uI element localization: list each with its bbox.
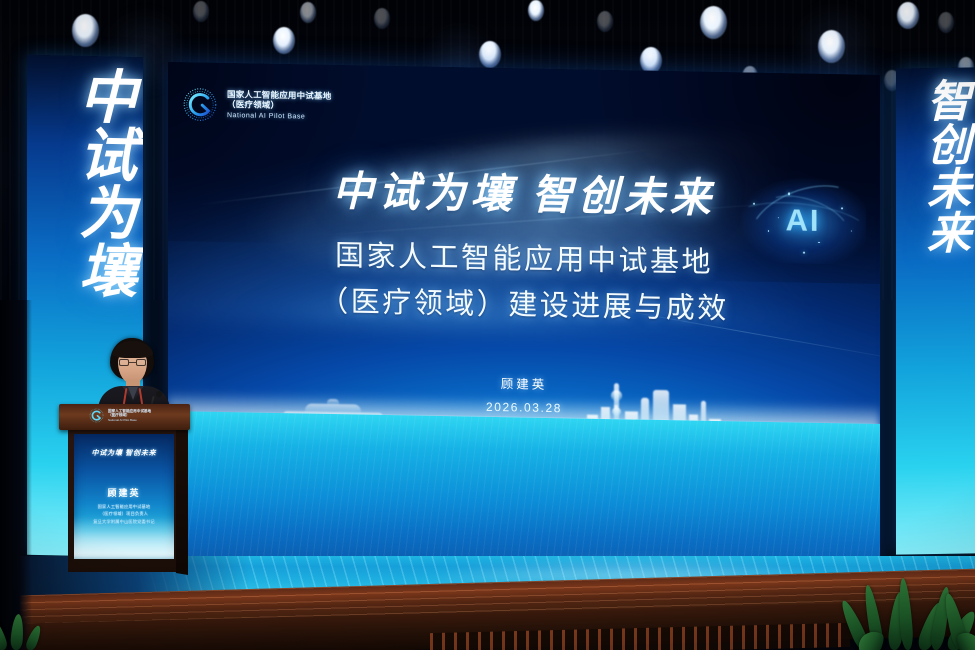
main-led-screen: 国家人工智能应用中试基地 （医疗领域） National AI Pilot Ba… <box>168 62 880 573</box>
speaker-glasses <box>119 359 146 366</box>
stage-plants-right <box>855 562 975 650</box>
stage-scene: 中试为壤 <box>0 0 975 650</box>
spiral-ring-logo-icon <box>182 86 218 123</box>
podium-brand-cn-2: （医疗领域） <box>108 413 151 417</box>
right-banner-text: 智创未来 <box>896 77 975 254</box>
podium-brand-en: National AI Pilot Base <box>108 418 151 422</box>
ceiling-spotlight <box>938 12 954 33</box>
ceiling-spotlight <box>273 27 295 54</box>
stage-plants-left <box>0 610 52 650</box>
podium-screen-wave <box>74 517 174 560</box>
ceiling-spotlight <box>528 0 544 21</box>
right-vertical-banner: 智创未来 <box>896 67 975 554</box>
screen-brand-name-cn-2: （医疗领域） <box>227 99 331 111</box>
podium-brand-lockup: 国家人工智能应用中试基地 （医疗领域） National AI Pilot Ba… <box>89 408 151 423</box>
microphone-head <box>156 391 162 397</box>
ceiling-spotlight <box>374 8 390 29</box>
spiral-ring-logo-icon <box>89 408 104 423</box>
podium-screen-name: 顾建英 <box>74 486 174 499</box>
screen-brand-name-en: National AI Pilot Base <box>227 112 331 122</box>
slide-title: 国家人工智能应用中试基地 （医疗领域）建设进展与成效 <box>168 230 880 335</box>
ceiling-spotlight <box>193 1 209 22</box>
ceiling-spotlight <box>597 11 613 32</box>
hall-left-pillar <box>0 300 32 650</box>
left-banner-text: 中试为壤 <box>27 65 143 299</box>
podium-display-screen: 中试为壤 智创未来 顾建英 国家人工智能应用中试基地 （医疗领域）项目负责人 复… <box>74 434 174 559</box>
screen-brand-lockup: 国家人工智能应用中试基地 （医疗领域） National AI Pilot Ba… <box>182 86 331 125</box>
banner-shine <box>896 466 975 555</box>
podium-screen-headline: 中试为壤 智创未来 <box>74 448 174 458</box>
ceiling-spotlight <box>700 6 727 39</box>
podium-top-panel: 国家人工智能应用中试基地 （医疗领域） National AI Pilot Ba… <box>59 404 190 430</box>
screen-water-reflection <box>168 411 880 573</box>
podium-screen-role-1: 国家人工智能应用中试基地 <box>78 504 170 511</box>
ceiling-spotlight <box>479 41 501 68</box>
ceiling-spotlight <box>897 2 919 29</box>
ceiling-spotlight <box>72 14 99 47</box>
ceiling-spotlight <box>818 30 845 63</box>
podium: 国家人工智能应用中试基地 （医疗领域） National AI Pilot Ba… <box>62 404 186 572</box>
ceiling-spotlight <box>300 2 316 23</box>
podium-side-panel <box>176 425 188 575</box>
